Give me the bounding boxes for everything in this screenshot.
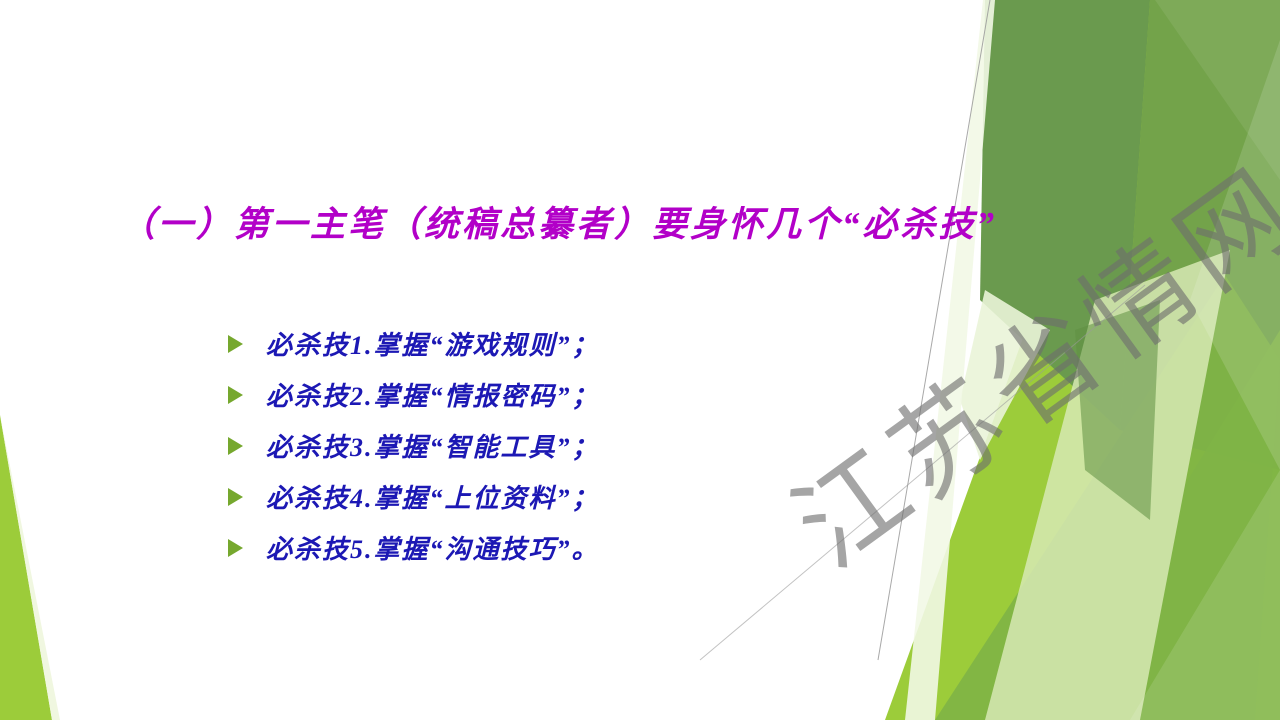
bullet-list: 必杀技1.掌握“游戏规则”； 必杀技2.掌握“情报密码”； 必杀技3.掌握“智能… bbox=[228, 318, 988, 573]
decoration-olive-accent bbox=[1075, 300, 1160, 520]
list-item[interactable]: 必杀技1.掌握“游戏规则”； bbox=[228, 318, 988, 369]
triangle-right-icon bbox=[228, 488, 266, 506]
decoration-left-wedge-highlight bbox=[0, 415, 60, 720]
list-item-label: 必杀技3.掌握“智能工具”； bbox=[266, 427, 600, 464]
decoration-right-light-triangle-a bbox=[1190, 40, 1280, 470]
list-item-label: 必杀技1.掌握“游戏规则”； bbox=[266, 325, 600, 362]
list-item[interactable]: 必杀技3.掌握“智能工具”； bbox=[228, 420, 988, 471]
triangle-right-icon bbox=[228, 437, 266, 455]
triangle-right-icon bbox=[228, 539, 266, 557]
triangle-right-icon bbox=[228, 335, 266, 353]
list-item-label: 必杀技2.掌握“情报密码”； bbox=[266, 376, 600, 413]
list-item-label: 必杀技5.掌握“沟通技巧”。 bbox=[266, 529, 600, 566]
slide-canvas: 江苏省情网 （一）第一主笔（统稿总纂者）要身怀几个“必杀技” 必杀技1.掌握“游… bbox=[0, 0, 1280, 720]
list-item-label: 必杀技4.掌握“上位资料”； bbox=[266, 478, 600, 515]
decoration-mid-green-diagonal bbox=[1040, 330, 1280, 720]
list-item[interactable]: 必杀技5.掌握“沟通技巧”。 bbox=[228, 522, 988, 573]
triangle-right-icon bbox=[228, 386, 266, 404]
list-item[interactable]: 必杀技4.掌握“上位资料”； bbox=[228, 471, 988, 522]
page-title: （一）第一主笔（统稿总纂者）要身怀几个“必杀技” bbox=[120, 202, 1020, 248]
decoration-pale-green-wedge bbox=[985, 250, 1230, 720]
decoration-left-wedge bbox=[0, 415, 52, 720]
decoration-olive-wedge-lower bbox=[1120, 0, 1280, 470]
decoration-right-light-triangle-c bbox=[1155, 0, 1280, 180]
decoration-right-light-triangle-b bbox=[1130, 470, 1280, 720]
list-item[interactable]: 必杀技2.掌握“情报密码”； bbox=[228, 369, 988, 420]
